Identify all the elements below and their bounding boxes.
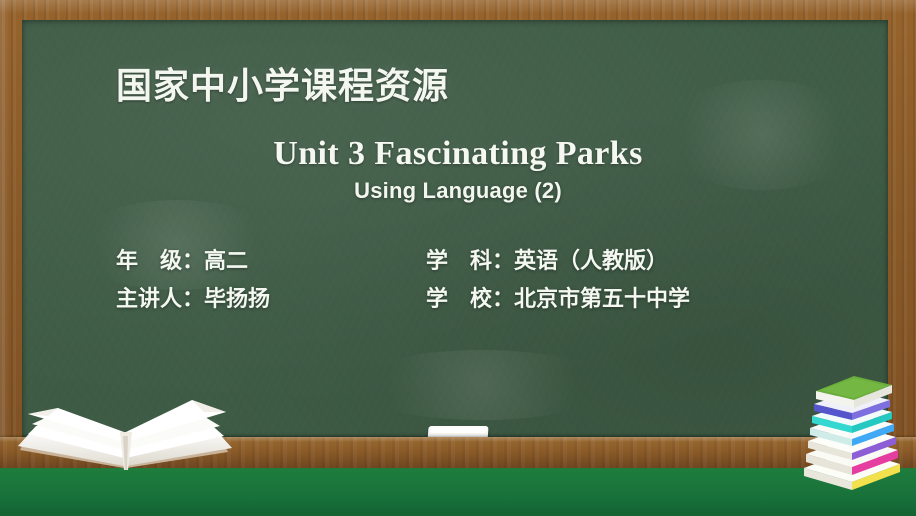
chalk-smudge [352, 350, 612, 420]
lesson-metadata: 年 级：高二 学 科：英语（人教版） 主讲人：毕扬扬 学 校：北京市第五十中学 [116, 242, 690, 318]
unit-subtitle: Using Language (2) [0, 178, 916, 204]
bottom-green-band [0, 468, 916, 516]
frame-top-highlight [0, 0, 916, 14]
chalk-ledge [0, 437, 916, 468]
subject-field: 学 科：英语（人教版） [426, 242, 668, 280]
teacher-field: 主讲人：毕扬扬 [116, 280, 426, 318]
metadata-row-teacher-school: 主讲人：毕扬扬 学 校：北京市第五十中学 [116, 280, 690, 318]
grade-field: 年 级：高二 [116, 242, 426, 280]
metadata-row-grade-subject: 年 级：高二 学 科：英语（人教版） [116, 242, 690, 280]
unit-title: Unit 3 Fascinating Parks [0, 135, 916, 173]
school-field: 学 校：北京市第五十中学 [426, 280, 690, 318]
platform-brand-title: 国家中小学课程资源 [116, 57, 449, 109]
lesson-title-slide: 国家中小学课程资源 Unit 3 Fascinating Parks Using… [0, 0, 916, 516]
ledge-highlight [0, 437, 916, 442]
